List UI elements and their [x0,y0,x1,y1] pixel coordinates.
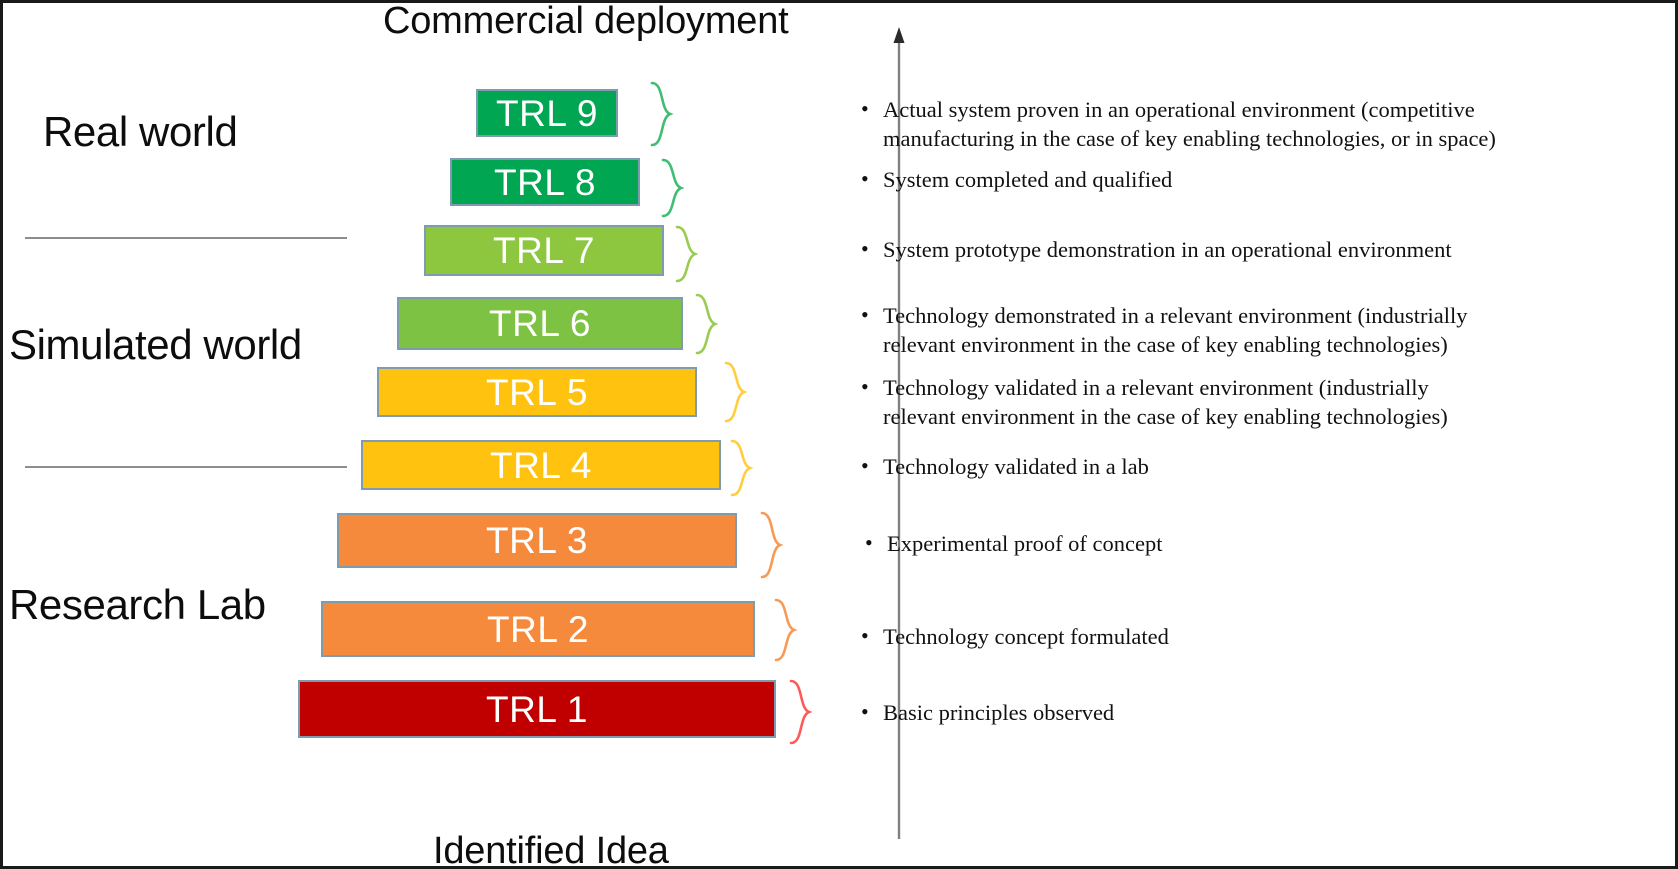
trl-description-text: Technology demonstrated in a relevant en… [883,301,1521,359]
trl-description-8: •System completed and qualified [861,165,1561,194]
trl-description-text: Technology validated in a relevant envir… [883,373,1491,431]
bullet-dot-icon: • [861,95,883,122]
curly-brace-icon-1 [789,679,819,745]
trl-bar-4[interactable]: TRL 4 [361,440,721,490]
curly-brace-icon-5 [724,361,754,423]
trl-description-text: System prototype demonstration in an ope… [883,235,1452,264]
bullet-dot-icon: • [865,529,887,556]
trl-bar-label: TRL 9 [496,95,598,132]
bullet-dot-icon: • [861,622,883,649]
stage-label-simulated-world: Simulated world [9,321,302,369]
trl-bar-label: TRL 4 [490,447,592,484]
stage-label-research-lab: Research Lab [9,581,266,629]
trl-bar-9[interactable]: TRL 9 [476,89,618,137]
trl-description-4: •Technology validated in a lab [861,452,1561,481]
trl-description-text: Technology concept formulated [883,622,1169,651]
trl-bar-label: TRL 5 [486,374,588,411]
bullet-dot-icon: • [861,452,883,479]
trl-bar-label: TRL 1 [486,691,588,728]
trl-bar-8[interactable]: TRL 8 [450,158,640,206]
stage-divider-1 [25,237,347,239]
trl-description-3: • Experimental proof of concept [865,529,1565,558]
trl-bar-label: TRL 8 [494,164,596,201]
trl-bar-label: TRL 2 [487,611,589,648]
curly-brace-icon-3 [760,511,790,579]
trl-description-5: •Technology validated in a relevant envi… [861,373,1491,431]
curly-brace-icon-4 [730,439,760,497]
trl-description-6: •Technology demonstrated in a relevant e… [861,301,1521,359]
trl-bar-7[interactable]: TRL 7 [424,225,664,276]
trl-description-1: •Basic principles observed [861,698,1561,727]
trl-description-7: •System prototype demonstration in an op… [861,235,1561,264]
commercial-deployment-label: Commercial deployment [383,0,789,43]
trl-bar-label: TRL 6 [489,305,591,342]
trl-bar-3[interactable]: TRL 3 [337,513,737,568]
trl-description-text: Actual system proven in an operational e… [883,95,1573,153]
curly-brace-icon-8 [661,158,691,218]
bullet-dot-icon: • [861,698,883,725]
curly-brace-icon-9 [650,81,680,147]
curly-brace-icon-6 [695,293,725,355]
trl-description-9: •Actual system proven in an operational … [861,95,1573,153]
trl-diagram: Commercial deployment Identified Idea Re… [0,0,1678,869]
trl-bar-1[interactable]: TRL 1 [298,680,776,738]
trl-description-2: •Technology concept formulated [861,622,1561,651]
trl-description-text: System completed and qualified [883,165,1172,194]
trl-description-text: Technology validated in a lab [883,452,1149,481]
trl-description-text: Experimental proof of concept [887,529,1163,558]
bullet-dot-icon: • [861,165,883,192]
trl-description-text: Basic principles observed [883,698,1114,727]
bullet-dot-icon: • [861,301,883,328]
bullet-dot-icon: • [861,235,883,262]
trl-bar-5[interactable]: TRL 5 [377,367,697,417]
trl-bar-label: TRL 7 [493,232,595,269]
curly-brace-icon-7 [675,225,705,283]
identified-idea-label: Identified Idea [433,830,669,869]
trl-bar-6[interactable]: TRL 6 [397,297,683,350]
trl-bar-label: TRL 3 [486,522,588,559]
curly-brace-icon-2 [774,598,804,662]
stage-label-real-world: Real world [43,108,237,156]
trl-bar-2[interactable]: TRL 2 [321,601,755,657]
stage-divider-2 [25,466,347,468]
bullet-dot-icon: • [861,373,883,400]
